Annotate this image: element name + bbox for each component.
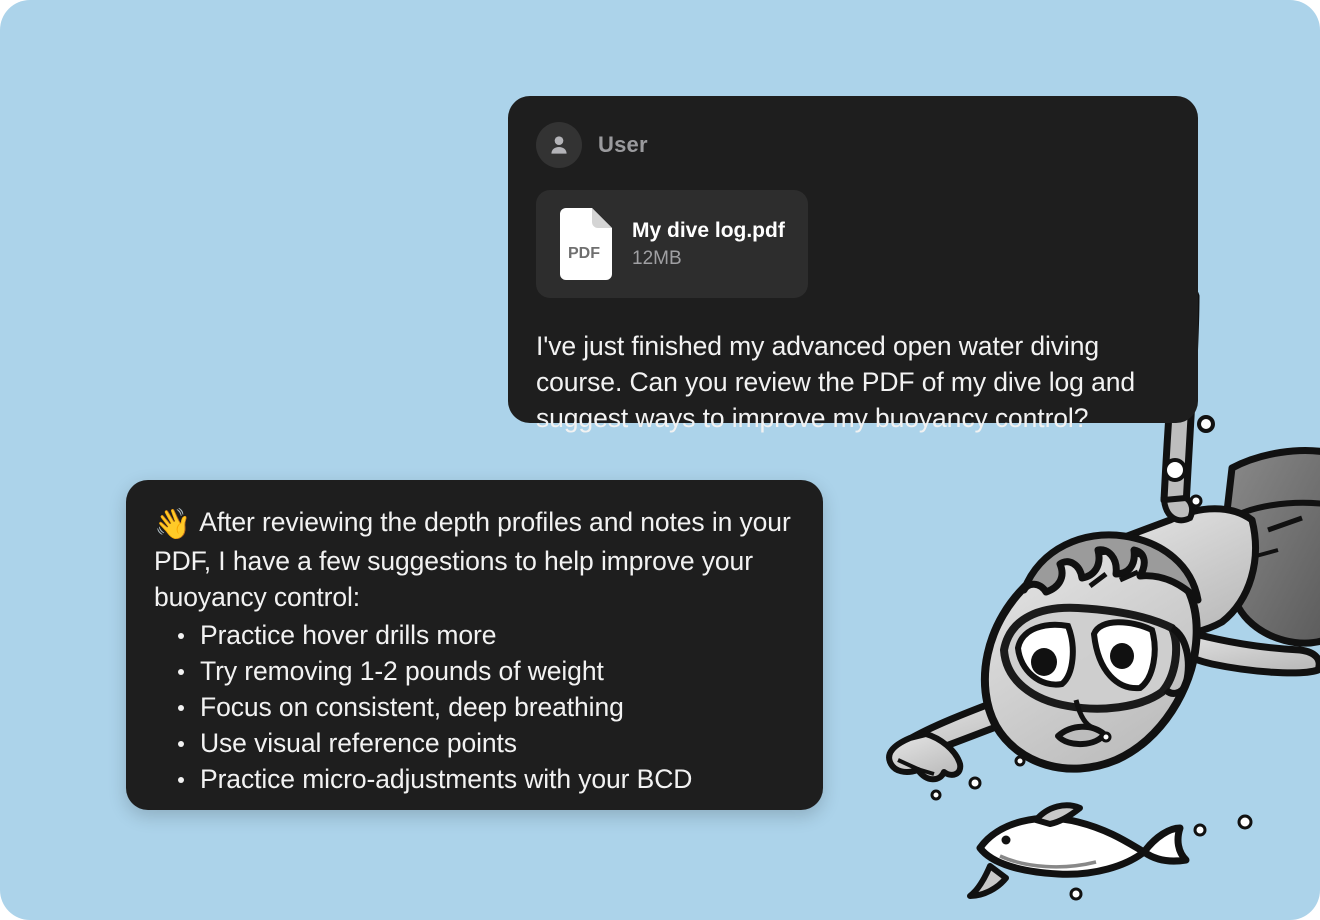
hair-stroke-1	[1090, 574, 1106, 586]
eye-left	[1031, 648, 1057, 676]
bubble	[932, 791, 940, 799]
pdf-icon-label: PDF	[568, 245, 600, 262]
dive-mask	[1004, 608, 1176, 709]
list-item: Try removing 1-2 pounds of weight	[200, 653, 793, 689]
left-hand	[889, 734, 960, 779]
attachment-card[interactable]: PDF My dive log.pdf 12MB	[536, 190, 808, 298]
left-arm	[897, 700, 1018, 762]
fish-body	[980, 818, 1144, 874]
mask-lens-left	[1018, 625, 1073, 685]
fish-fin-bottom	[970, 866, 1006, 896]
finger-line-1	[898, 760, 920, 770]
assistant-intro-text: 👋After reviewing the depth profiles and …	[154, 504, 793, 615]
air-bubbles	[932, 385, 1251, 899]
assistant-message-bubble: 👋After reviewing the depth profiles and …	[126, 480, 823, 810]
attachment-filename: My dive log.pdf	[632, 219, 784, 243]
fish	[970, 805, 1186, 896]
fish-eye	[1002, 836, 1011, 845]
mouth	[1058, 727, 1104, 744]
suggestion-list: Practice hover drills more Try removing …	[154, 617, 793, 797]
avatar	[536, 122, 582, 168]
wetsuit-fold-1	[1268, 518, 1302, 530]
list-item: Focus on consistent, deep breathing	[200, 689, 793, 725]
finger-line-2	[914, 768, 934, 774]
fish-belly-line	[1000, 856, 1096, 867]
mask-strap	[1166, 628, 1188, 693]
mask-lens-right	[1094, 622, 1155, 688]
fish-tail	[1144, 828, 1186, 861]
list-item: Use visual reference points	[200, 725, 793, 761]
chat-scene: User PDF My dive log.pdf 12MB I've just …	[0, 0, 1320, 920]
snorkel-mouthpiece	[1164, 498, 1192, 520]
waving-hand-emoji: 👋	[154, 508, 191, 541]
list-item: Practice micro-adjustments with your BCD	[200, 761, 793, 797]
hair	[1024, 535, 1198, 600]
nose	[1076, 700, 1094, 728]
wetsuit-fold-2	[1256, 550, 1278, 556]
message-author: User	[598, 132, 648, 158]
wetsuit-cuff	[1228, 503, 1320, 520]
wetsuit-sleeve	[1225, 451, 1320, 644]
bubble	[1191, 496, 1201, 506]
list-item: Practice hover drills more	[200, 617, 793, 653]
hair-stroke-2	[1120, 572, 1138, 580]
attachment-filesize: 12MB	[632, 248, 784, 270]
pdf-file-icon: PDF	[556, 208, 612, 280]
bubble	[1016, 757, 1024, 765]
bubble	[1195, 825, 1205, 835]
user-header: User	[536, 122, 1170, 168]
right-arm	[1168, 630, 1319, 673]
eye-right	[1110, 643, 1134, 669]
bubble	[1239, 816, 1251, 828]
bubble	[1071, 889, 1081, 899]
user-message-bubble: User PDF My dive log.pdf 12MB I've just …	[508, 96, 1198, 423]
assistant-intro-body: After reviewing the depth profiles and n…	[154, 507, 791, 612]
bubble	[1165, 460, 1185, 480]
person-icon	[546, 132, 572, 158]
user-message-text: I've just finished my advanced open wate…	[536, 328, 1170, 436]
bubble	[1199, 417, 1213, 431]
torso	[1098, 509, 1256, 636]
fish-fin-top	[1036, 805, 1080, 824]
head	[985, 551, 1197, 769]
bubble	[1102, 733, 1110, 741]
bubble	[970, 778, 980, 788]
